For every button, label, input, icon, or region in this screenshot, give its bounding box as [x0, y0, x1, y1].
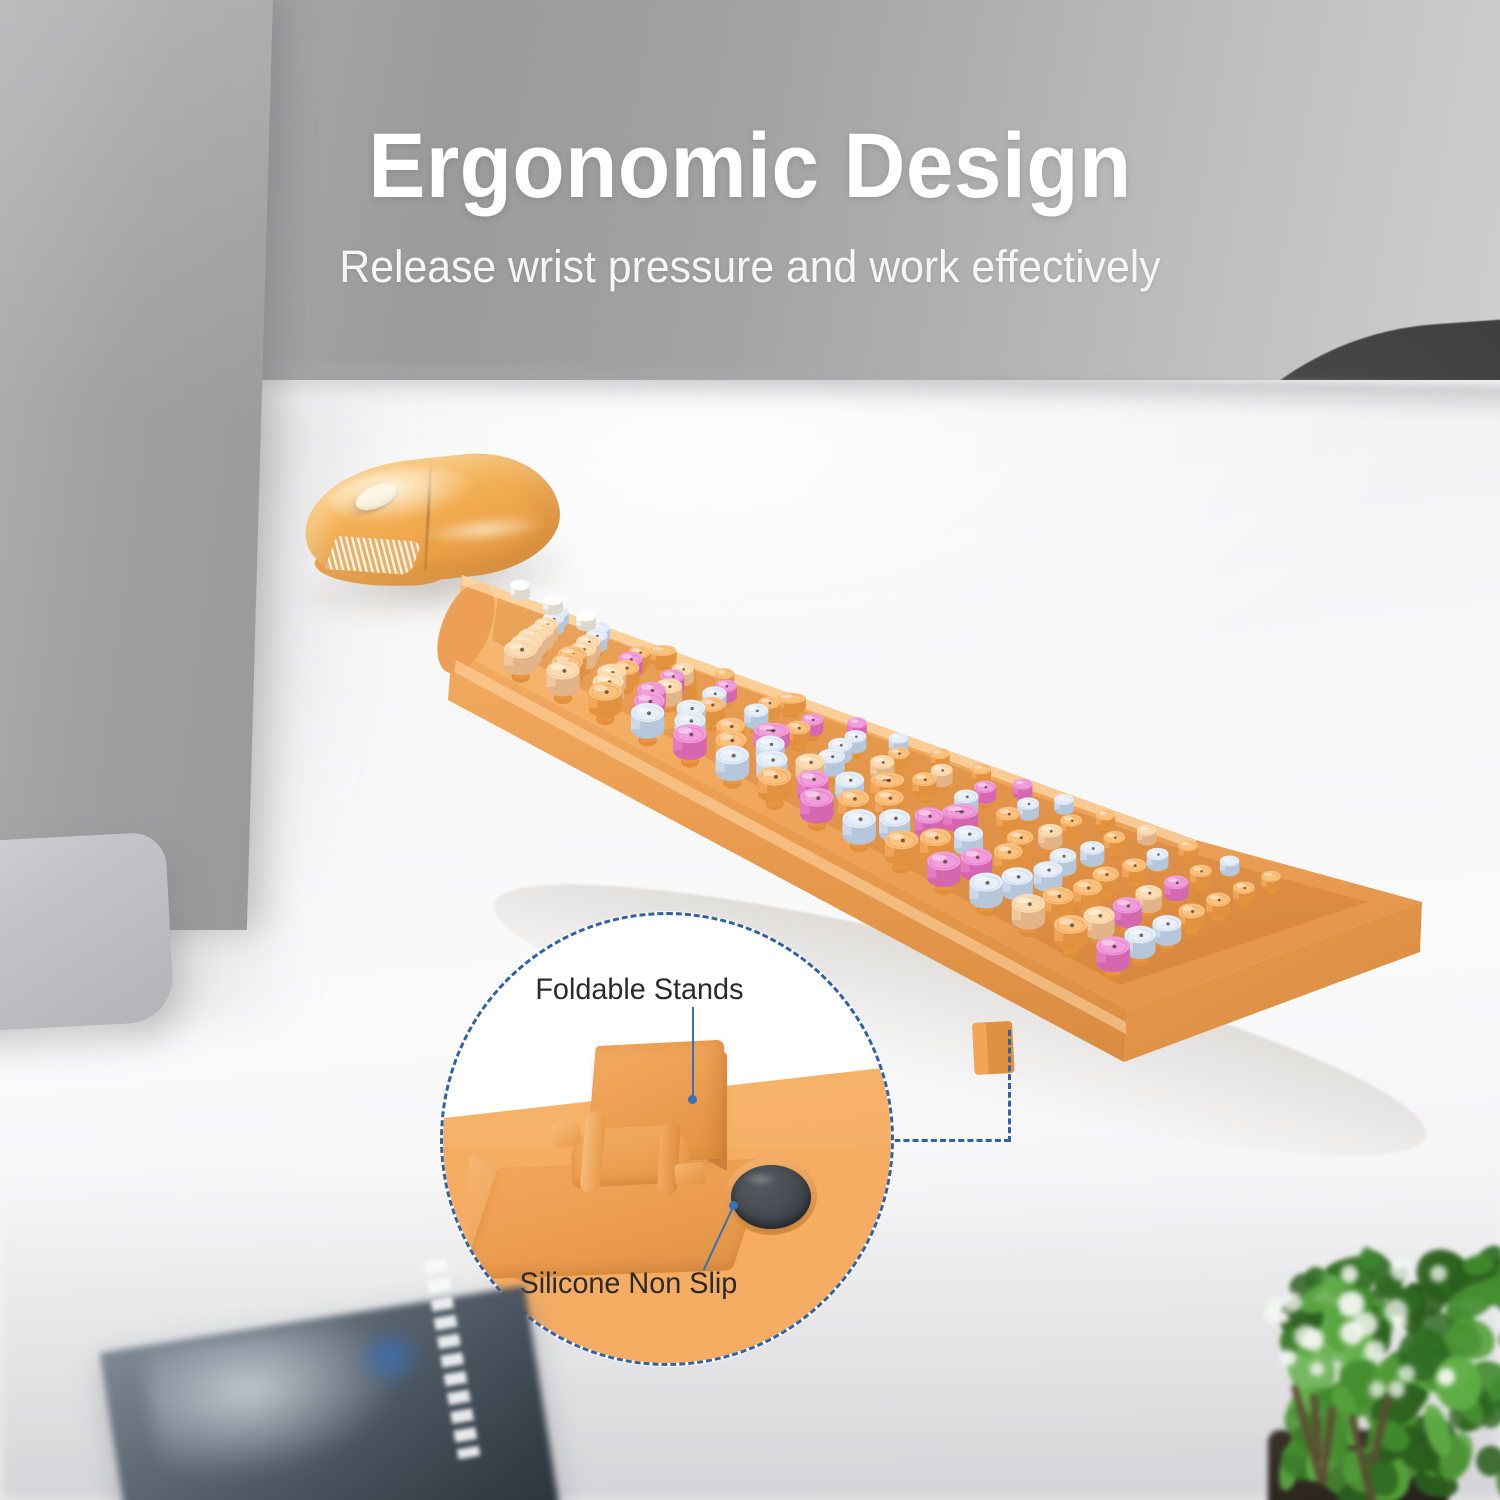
plant-flower [1277, 1312, 1289, 1324]
leader-line-foldable [692, 1007, 694, 1099]
callout-connector-vertical [1008, 1030, 1011, 1142]
callout-connector-horizontal [876, 1139, 1010, 1142]
plant-leaf [1470, 1441, 1500, 1481]
wireless-mouse [298, 437, 566, 603]
page-title: Ergonomic Design [53, 120, 1448, 212]
leader-dot-foldable [688, 1095, 697, 1104]
product-marketing-image: Ergonomic Design Release wrist pressure … [0, 0, 1500, 1500]
plant-flower [1302, 1328, 1324, 1350]
plant-foliage [1238, 1232, 1500, 1492]
plant-flower [1369, 1381, 1386, 1398]
plant-flower [1310, 1362, 1324, 1376]
silicone-pad-highlight [743, 1171, 777, 1187]
stand-catch-tab [674, 1161, 706, 1186]
book-cover-accent [351, 1327, 429, 1393]
page-subtitle: Release wrist pressure and work effectiv… [38, 242, 1463, 292]
plant-flower [1280, 1350, 1296, 1366]
plant-flower [1388, 1381, 1405, 1398]
plant-leaf [1497, 1316, 1500, 1354]
callout-label-foldable-stands: Foldable Stands [535, 973, 743, 1007]
plant-flower [1390, 1258, 1413, 1281]
plant-flower [1282, 1292, 1302, 1312]
mouse-mesh-grille [324, 536, 422, 575]
stand-pivot-nub [549, 1119, 582, 1149]
plant-flower [1341, 1265, 1358, 1282]
callout-label-silicone-non-slip: Silicone Non Slip [520, 1267, 738, 1301]
monitor-stand-foot [0, 831, 175, 1038]
leader-dot-silicone [729, 1201, 738, 1210]
banner-text-block: Ergonomic Design Release wrist pressure … [0, 120, 1500, 292]
plant-flower [1364, 1340, 1385, 1361]
plant-flower [1339, 1291, 1364, 1316]
